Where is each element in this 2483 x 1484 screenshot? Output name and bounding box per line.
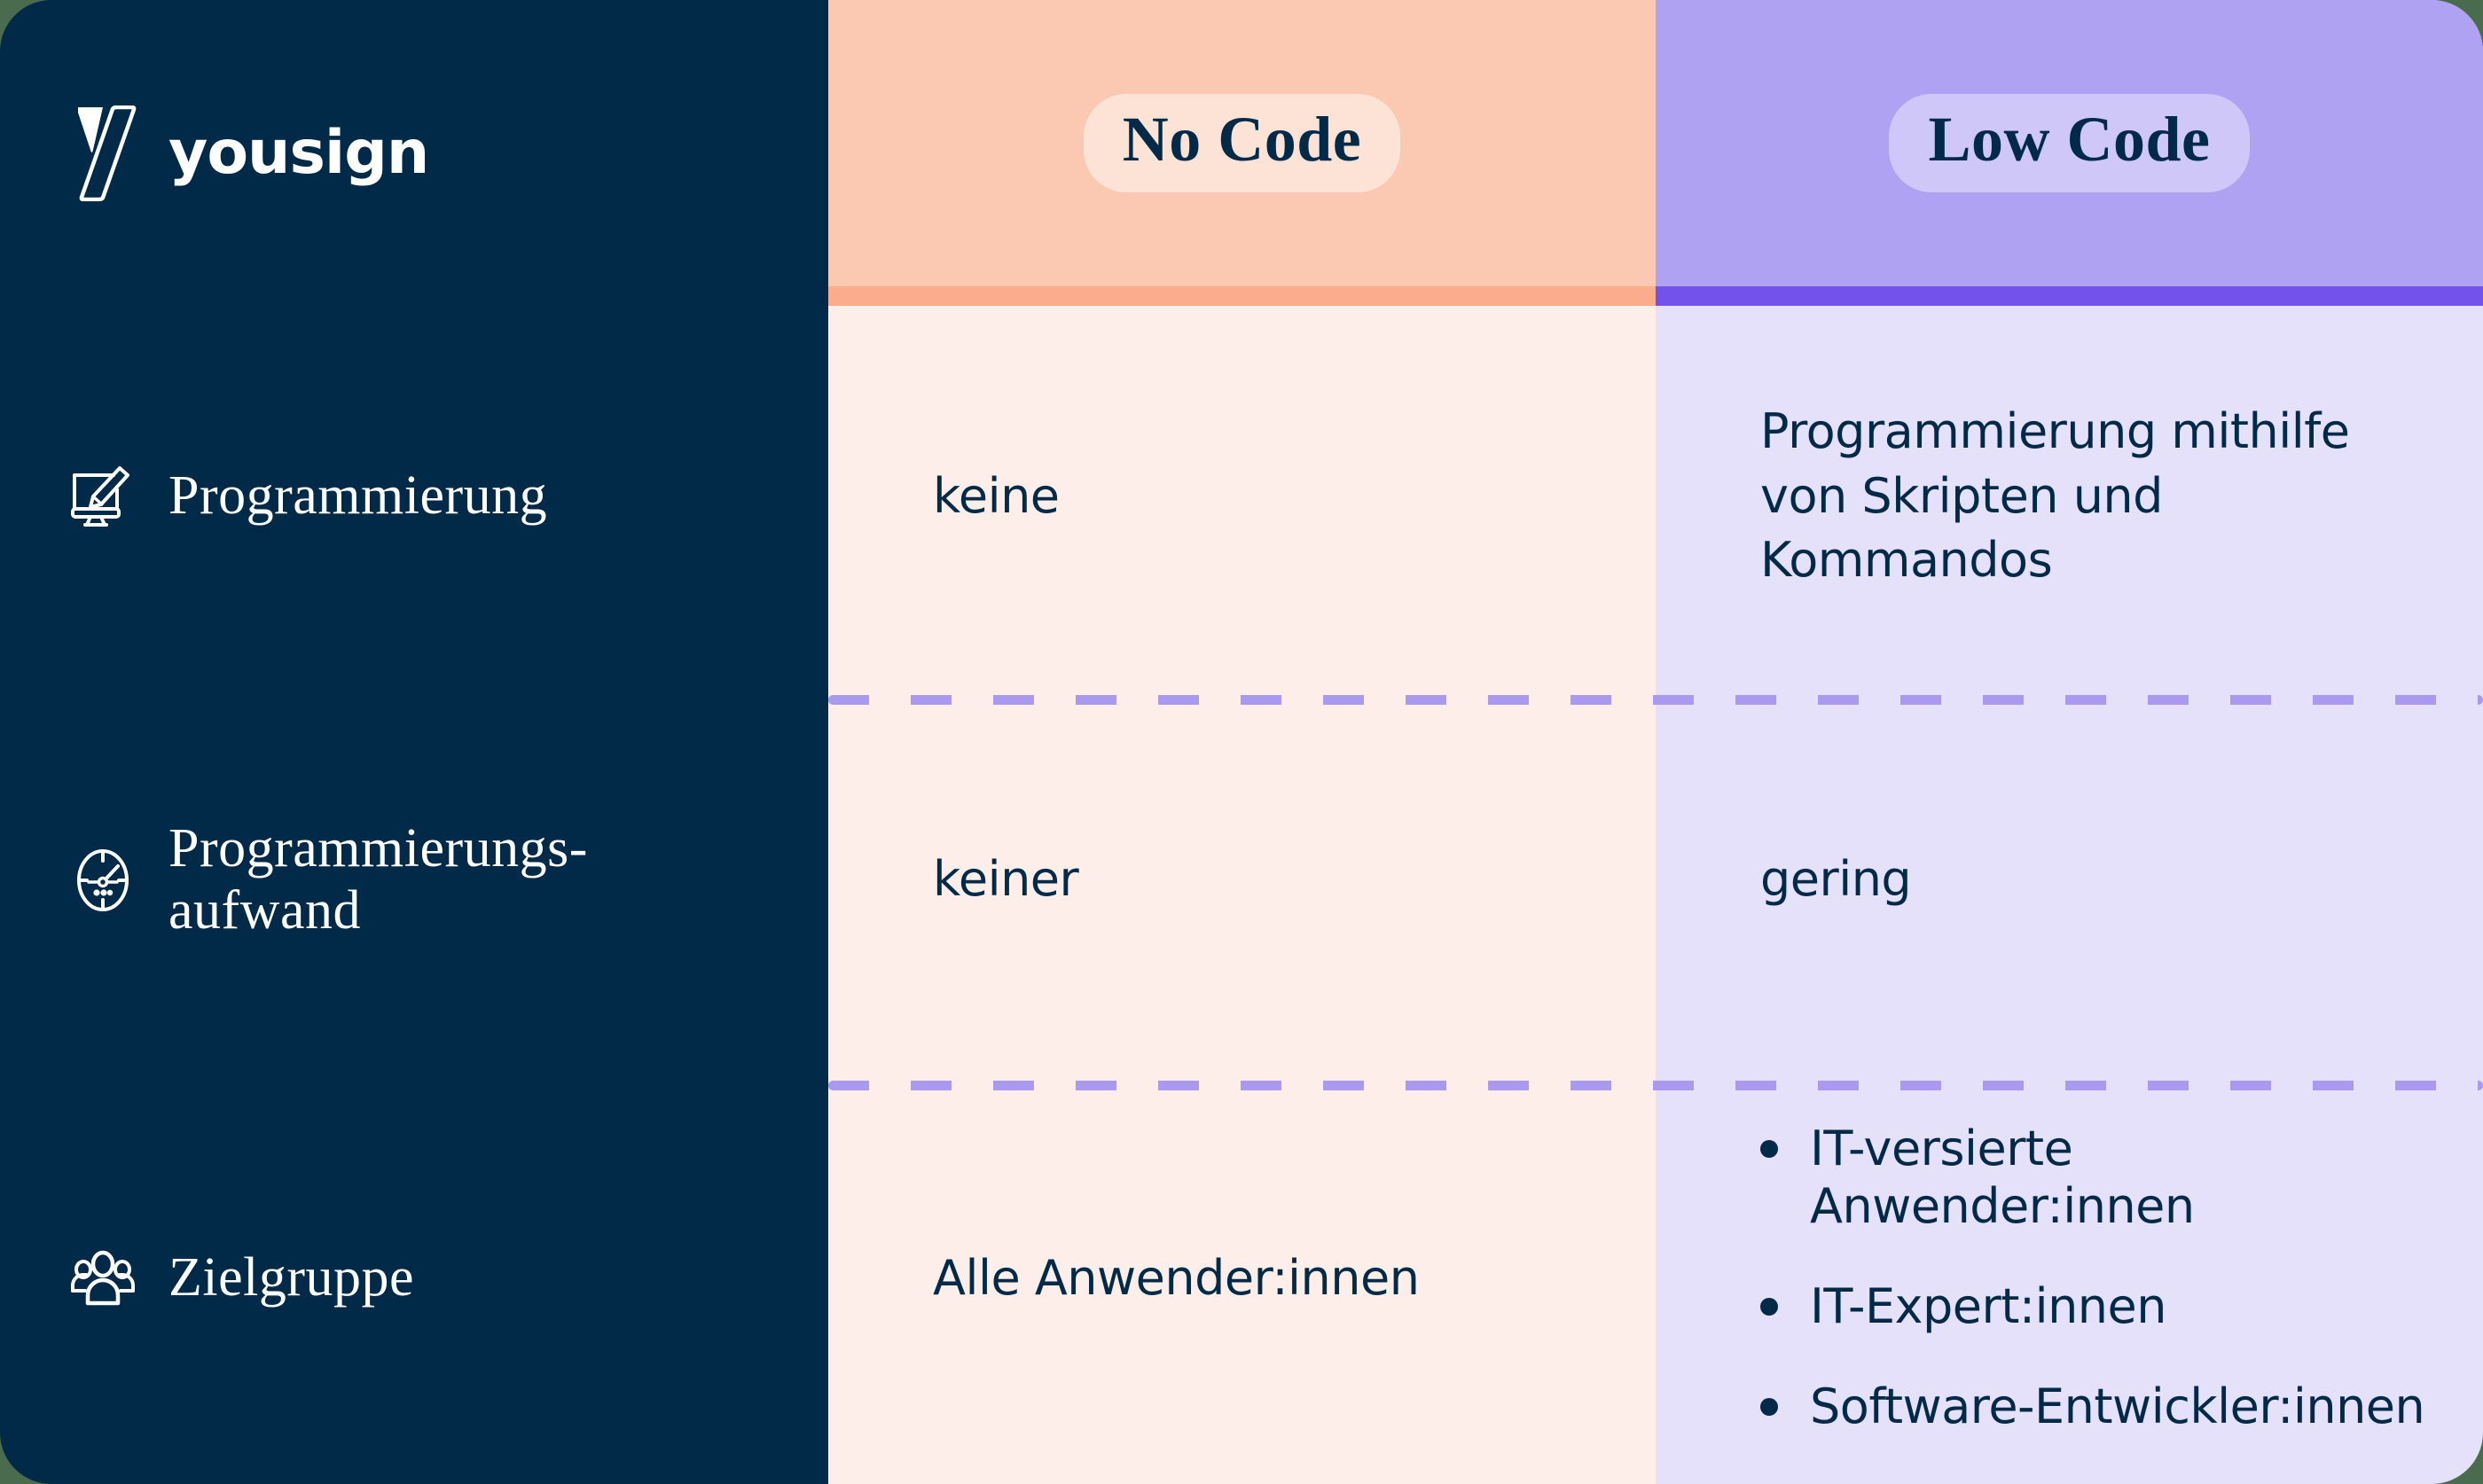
row-divider-2 (828, 1081, 2483, 1090)
gauge-icon (69, 847, 137, 914)
cell-text: keine (933, 465, 1620, 529)
comparison-card: yousign Programmierung (0, 0, 2483, 1484)
label-column: yousign Programmierung (0, 0, 828, 1484)
cell-text: Alle Anwender:innen (933, 1246, 1620, 1311)
row-label-programmieraufwand: Programmierungs- aufwand (0, 687, 828, 1073)
people-group-icon (69, 1245, 137, 1312)
list-item: IT-Expert:innen (1760, 1278, 2448, 1336)
column-accent-bar-no-code (828, 286, 1656, 306)
row-label-text: Zielgruppe (168, 1247, 414, 1308)
cell-no-code-programmieraufwand: keiner (828, 687, 1656, 1073)
row-label-zielgruppe: Zielgruppe (0, 1073, 828, 1484)
row-label-programmierung: Programmierung (0, 306, 828, 687)
row-label-text: Programmierungs- aufwand (168, 818, 588, 941)
row-divider-1 (828, 695, 2483, 705)
list-item: IT-versierte Anwender:innen (1760, 1121, 2448, 1236)
column-header-low-code: Low Code (1656, 0, 2483, 286)
column-no-code: No Code keine keiner Alle Anwender:innen (828, 0, 1656, 1484)
cell-text: keiner (933, 847, 1620, 912)
column-title-no-code: No Code (1084, 94, 1401, 193)
brand-header: yousign (0, 0, 828, 306)
low-code-audience-list: IT-versierte Anwender:innen IT-Expert:in… (1760, 1121, 2448, 1435)
cell-low-code-zielgruppe: IT-versierte Anwender:innen IT-Expert:in… (1656, 1073, 2483, 1484)
cell-text: gering (1760, 847, 2448, 912)
yousign-logo-icon (76, 105, 137, 201)
row-label-text: Programmierung (168, 465, 547, 527)
cell-no-code-zielgruppe: Alle Anwender:innen (828, 1073, 1656, 1484)
column-accent-bar-low-code (1656, 286, 2483, 306)
cell-low-code-programmierung: Programmierung mithilfe von Skripten und… (1656, 306, 2483, 687)
brand-name: yousign (168, 123, 428, 184)
column-body-low-code: Programmierung mithilfe von Skripten und… (1656, 306, 2483, 1484)
cell-low-code-programmieraufwand: gering (1656, 687, 2483, 1073)
list-item: Software-Entwickler:innen (1760, 1379, 2448, 1436)
cell-text: Programmierung mithilfe von Skripten und… (1760, 400, 2448, 594)
cell-no-code-programmierung: keine (828, 306, 1656, 687)
column-header-no-code: No Code (828, 0, 1656, 286)
column-body-no-code: keine keiner Alle Anwender:innen (828, 306, 1656, 1484)
row-label-list: Programmierung Programmierungs- aufwand (0, 306, 828, 1484)
monitor-pencil-icon (69, 463, 137, 530)
column-title-low-code: Low Code (1889, 94, 2249, 193)
column-low-code: Low Code Programmierung mithilfe von Skr… (1656, 0, 2483, 1484)
